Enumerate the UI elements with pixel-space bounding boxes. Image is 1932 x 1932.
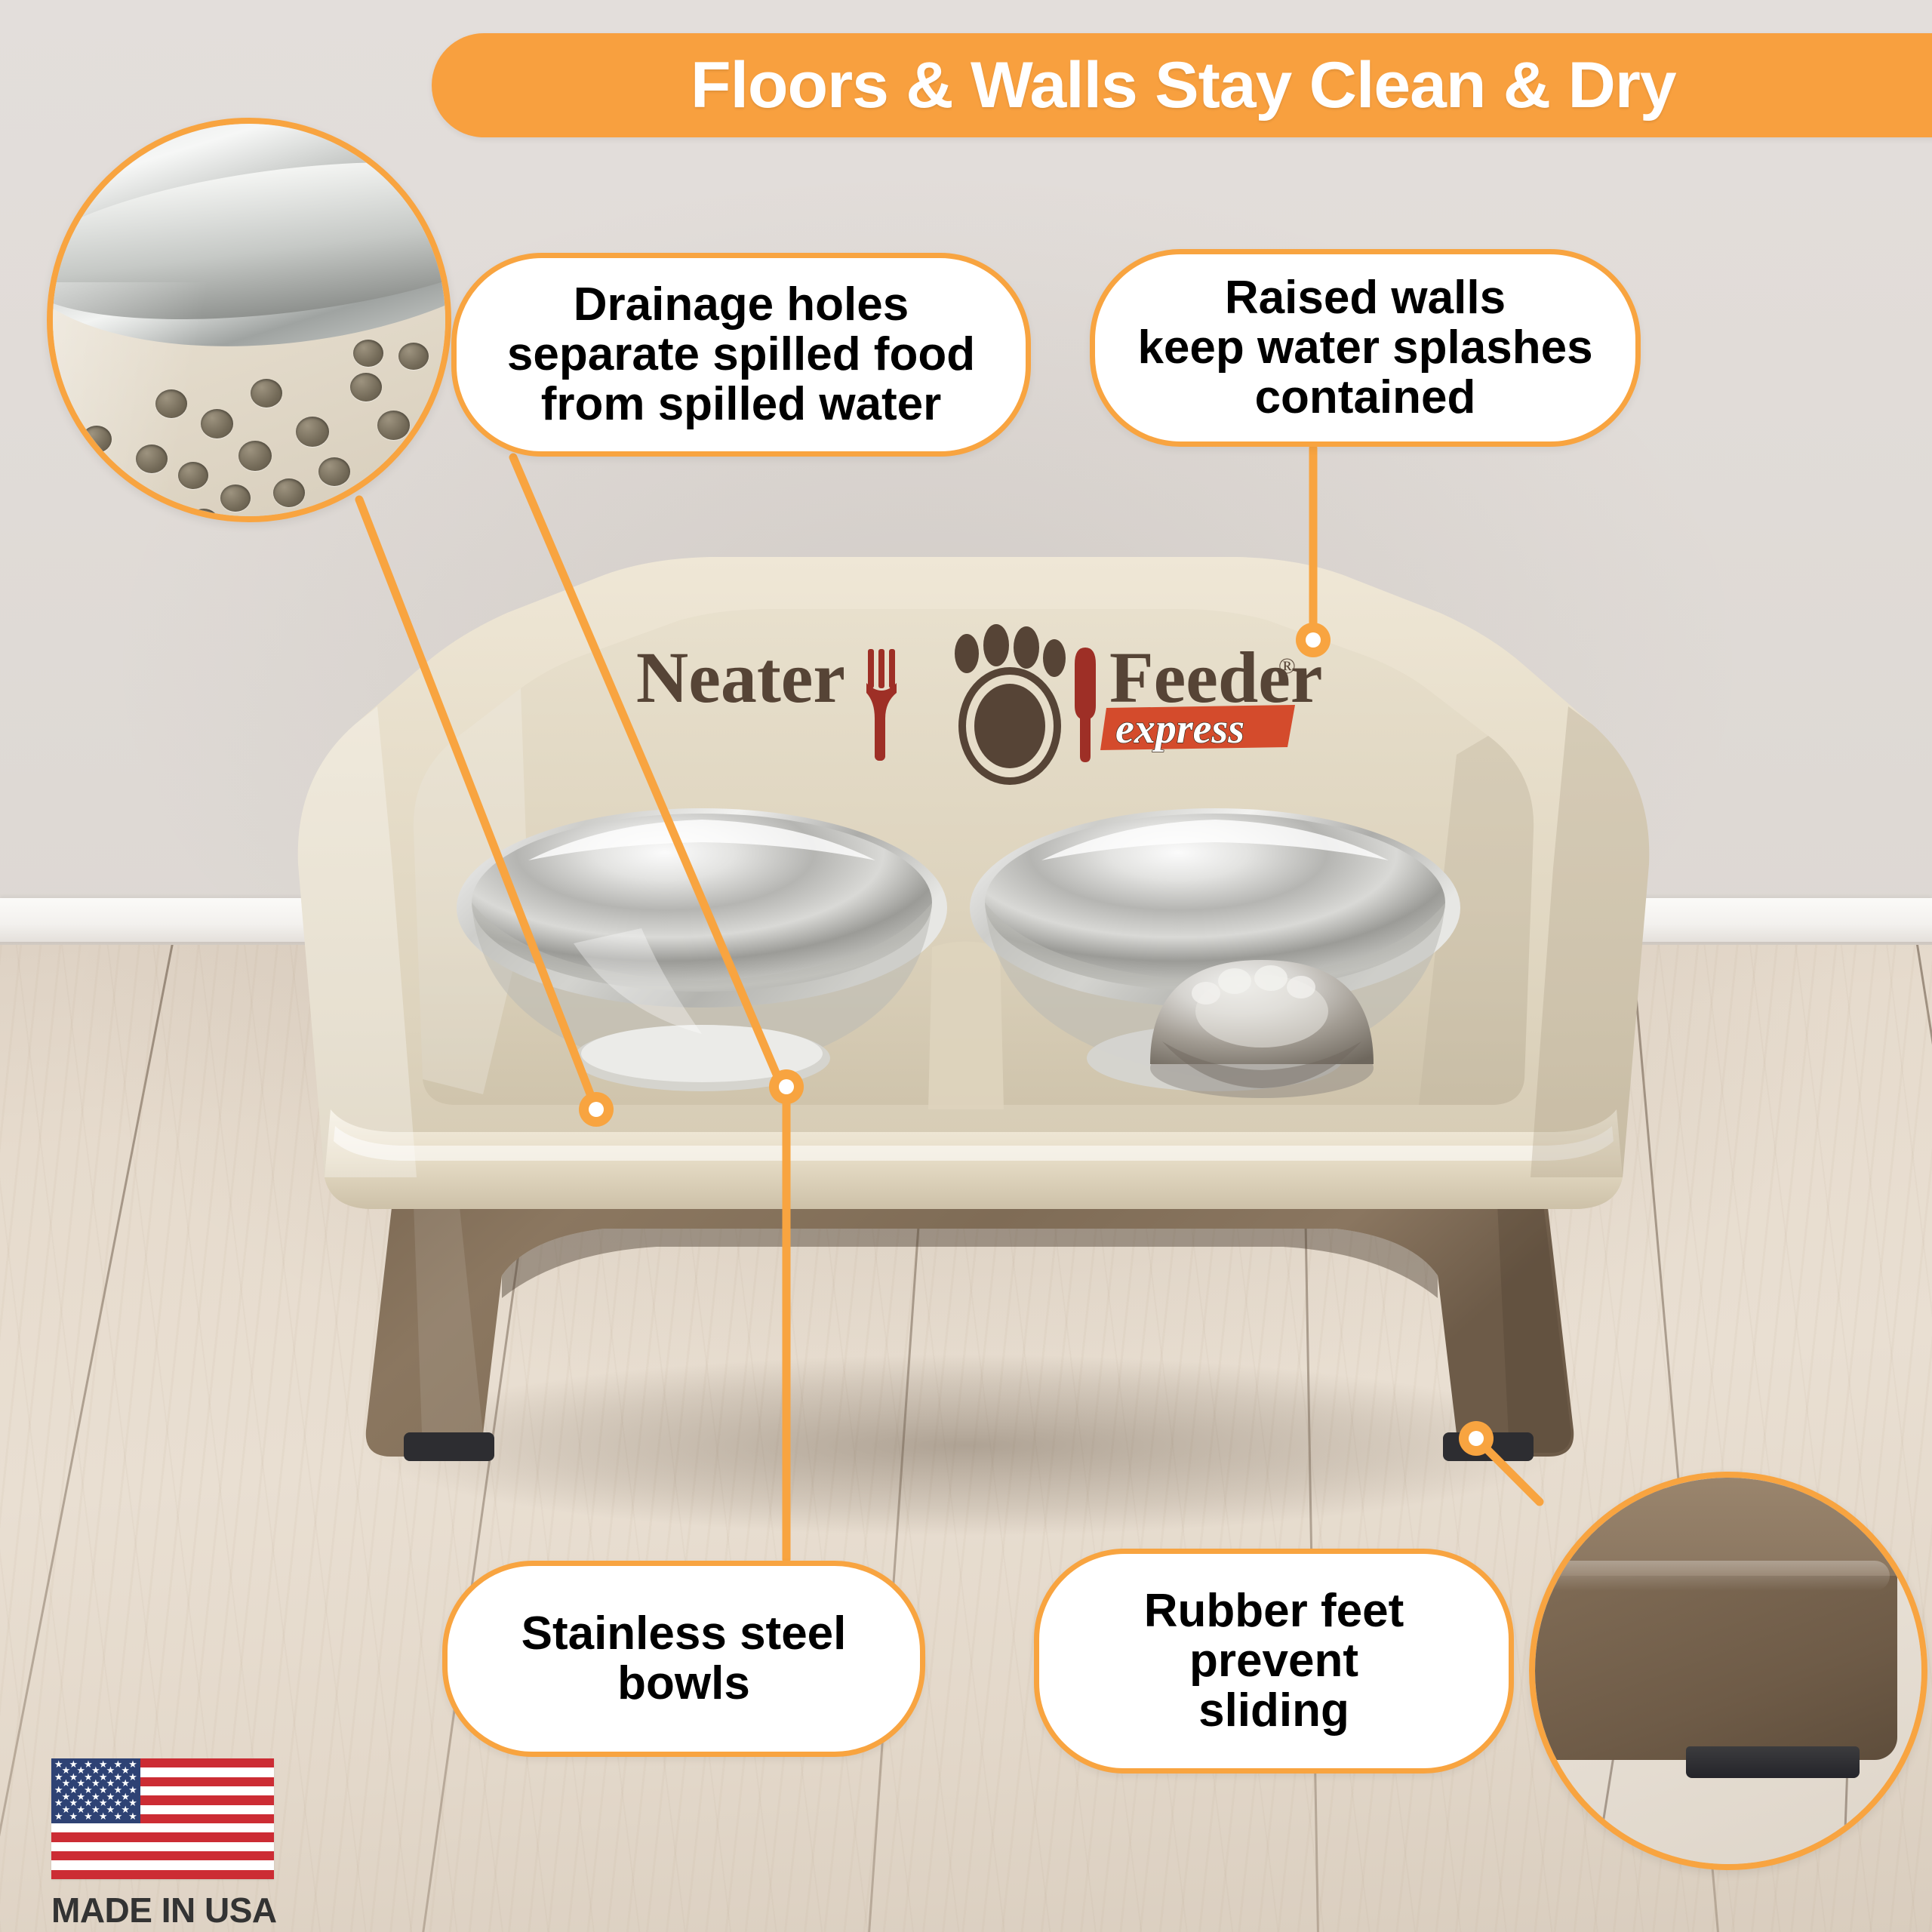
registered-trademark-symbol: ® (1278, 654, 1296, 678)
callout-stainless-bowls[interactable]: Stainless steelbowls (442, 1561, 925, 1757)
leader-dot-drainage (579, 1092, 614, 1127)
logo-word-neater: Neater (636, 637, 845, 718)
callout-rubber-feet[interactable]: Rubber feetpreventsliding (1034, 1549, 1514, 1774)
callout-raised-walls-text: Raised wallskeep water splashescontained (1137, 273, 1592, 423)
leader-dot-bowls (769, 1069, 804, 1104)
callout-raised-walls[interactable]: Raised wallskeep water splashescontained (1090, 249, 1641, 447)
leader-dot-rubber-feet (1459, 1421, 1494, 1456)
callout-drainage-holes[interactable]: Drainage holesseparate spilled foodfrom … (451, 253, 1031, 457)
made-in-usa-label: MADE IN USA (51, 1890, 278, 1930)
us-flag-icon: ★★★★★★★★★★★★★★★★★★★★★★★★★★★★★★★★★★★★★★★★… (51, 1758, 274, 1879)
callout-drainage-text: Drainage holesseparate spilled foodfrom … (507, 280, 975, 430)
drainage-holes-closeup-inset (47, 118, 451, 522)
infographic-canvas: Neater Fee (0, 0, 1932, 1932)
leader-dot-raised-walls (1296, 623, 1331, 657)
logo-word-express: express (1115, 706, 1244, 752)
callout-rubber-feet-text: Rubber feetpreventsliding (1144, 1586, 1404, 1737)
made-in-usa-badge: ★★★★★★★★★★★★★★★★★★★★★★★★★★★★★★★★★★★★★★★★… (51, 1758, 278, 1930)
rubber-foot-closeup-inset (1529, 1472, 1927, 1870)
callout-stainless-bowls-text: Stainless steelbowls (521, 1609, 847, 1709)
rubber-foot-left (404, 1432, 494, 1461)
